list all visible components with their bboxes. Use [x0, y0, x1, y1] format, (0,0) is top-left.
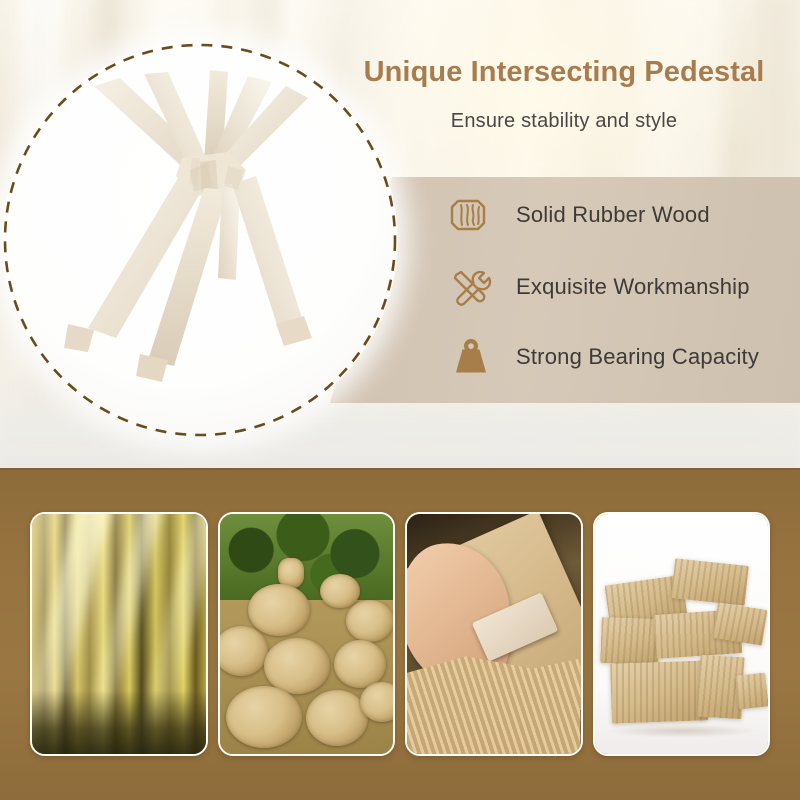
photo-stacked-logs	[218, 512, 396, 756]
timber-block	[600, 617, 660, 665]
feature-label: Strong Bearing Capacity	[516, 344, 759, 370]
timber-blocks-image	[595, 514, 769, 754]
feature-list: Solid Rubber Wood Exquisite Workmanship	[330, 177, 800, 403]
timber-block	[735, 673, 768, 710]
dashed-circle-callout	[2, 42, 398, 438]
log	[226, 686, 302, 748]
tools-wrench-screwdriver-icon	[448, 264, 494, 310]
log	[334, 640, 386, 688]
log	[248, 584, 310, 636]
product-infographic: Solid Rubber Wood Exquisite Workmanship	[0, 0, 800, 800]
log	[346, 600, 394, 642]
photo-sunlit-forest	[30, 512, 208, 756]
dashed-circle-outline	[2, 42, 398, 438]
timber-block	[609, 660, 707, 723]
log	[264, 638, 330, 694]
tree-canopy	[220, 514, 394, 600]
log	[320, 574, 360, 608]
light-ray	[30, 512, 117, 756]
log	[306, 690, 368, 746]
feature-label: Solid Rubber Wood	[516, 202, 710, 228]
feature-label: Exquisite Workmanship	[516, 274, 750, 300]
page-subtitle: Ensure stability and style	[336, 110, 792, 133]
feature-item-solid-rubber-wood: Solid Rubber Wood	[448, 187, 710, 243]
photo-timber-blocks	[593, 512, 771, 756]
band-top-edge	[0, 468, 800, 470]
feature-item-exquisite-workmanship: Exquisite Workmanship	[448, 259, 750, 315]
wood-plank-icon	[448, 192, 494, 238]
material-gallery	[30, 512, 770, 752]
wood-shavings	[407, 650, 581, 754]
feature-item-strong-bearing-capacity: Strong Bearing Capacity	[448, 329, 759, 385]
timber-block	[712, 602, 767, 645]
timber-block	[671, 558, 749, 606]
weight-kettlebell-icon	[448, 334, 494, 380]
logs-image	[220, 514, 394, 754]
forest-image	[32, 514, 206, 754]
photo-sanding-wood	[405, 512, 583, 756]
page-title: Unique Intersecting Pedestal	[336, 56, 792, 89]
log	[218, 626, 268, 676]
sanding-image	[407, 514, 581, 754]
